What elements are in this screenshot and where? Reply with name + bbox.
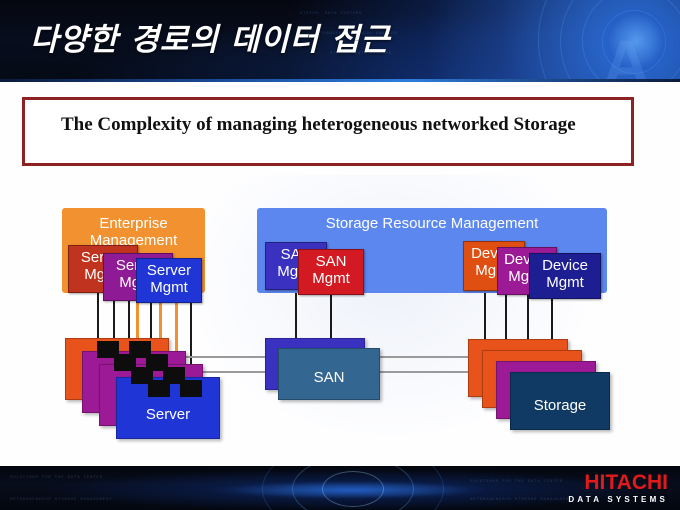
slide-canvas: A STATUS: DATA SYSTEMS TRANSFER PROTOCOL… — [0, 0, 680, 510]
architecture-diagram: Enterprise Management Storage Resource M… — [0, 175, 680, 460]
tool-san-mgmt-2[interactable]: SAN Mgmt — [298, 249, 364, 295]
node-server-label: Server — [117, 406, 219, 423]
footer-microtext-4: HETEROGENEOUS STORAGE MANAGEMENT — [470, 498, 572, 502]
link-san-mgmt-a — [295, 293, 297, 339]
tool-server-mgmt-3[interactable]: Server Mgmt — [136, 258, 202, 303]
header-watermark-letter: A — [602, 30, 650, 82]
port-server-4b — [180, 380, 202, 397]
footer-microtext-3: SOLUTIONS FOR THE DATA CENTER — [470, 480, 563, 484]
port-server-4a — [148, 380, 170, 397]
band-storage-resource-management-label: Storage Resource Management — [326, 215, 539, 232]
tool-device-mgmt-3[interactable]: Device Mgmt — [529, 253, 601, 299]
tool-device-mgmt-3-label: Device Mgmt — [542, 257, 588, 291]
node-storage-label: Storage — [511, 397, 609, 414]
logo-hitachi-text: HITACHI — [568, 472, 668, 493]
tool-server-mgmt-3-label: Server Mgmt — [147, 262, 191, 296]
headline-text: The Complexity of managing heterogeneous… — [61, 112, 621, 139]
header-accent-bar — [0, 79, 680, 82]
slide-header: A STATUS: DATA SYSTEMS TRANSFER PROTOCOL… — [0, 0, 680, 82]
node-san-label: SAN — [279, 369, 379, 386]
logo-data-systems-text: DATA SYSTEMS — [568, 496, 668, 504]
headline-box: The Complexity of managing heterogeneous… — [22, 97, 634, 166]
footer-microtext-1: SOLUTIONS FOR THE DATA CENTER — [10, 476, 103, 480]
page-title: 다양한 경로의 데이터 접근 — [30, 14, 390, 59]
node-san-2[interactable]: SAN — [278, 348, 380, 400]
node-storage-4[interactable]: Storage — [510, 372, 610, 430]
footer-ring-small — [322, 471, 384, 507]
tool-san-mgmt-2-label: SAN Mgmt — [312, 253, 350, 287]
footer-microtext-2: HETEROGENEOUS STORAGE MANAGEMENT — [10, 498, 112, 502]
link-san-mgmt-b — [330, 293, 332, 339]
slide-footer: SOLUTIONS FOR THE DATA CENTER HETEROGENE… — [0, 466, 680, 510]
hitachi-data-systems-logo: HITACHI DATA SYSTEMS — [568, 472, 668, 504]
